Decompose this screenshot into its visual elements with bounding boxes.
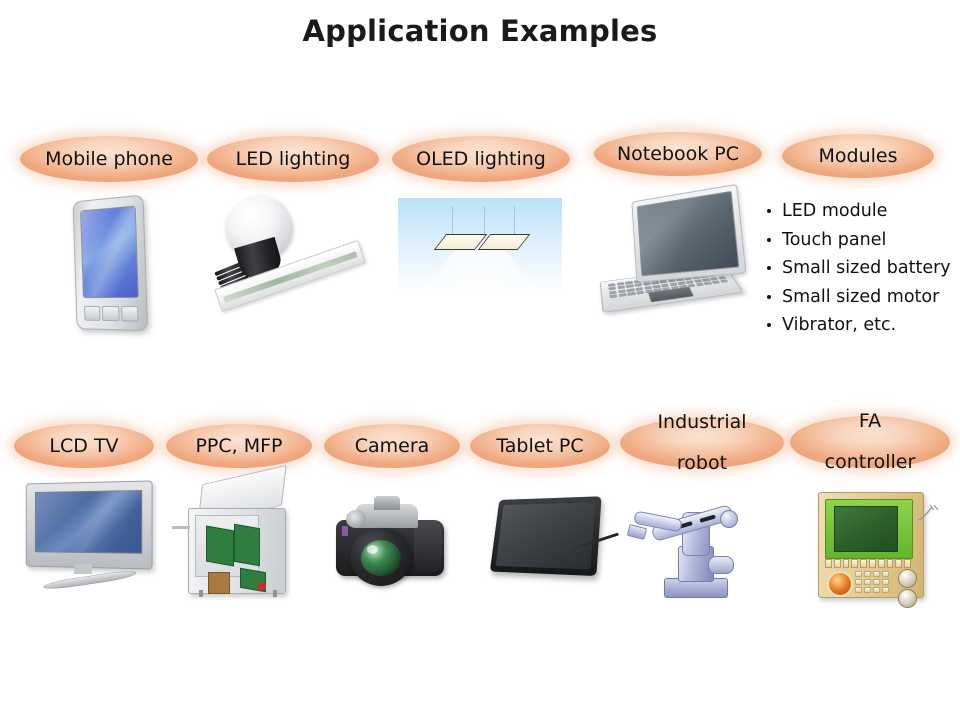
camera-badge bbox=[342, 526, 348, 536]
label-text: FA controller bbox=[825, 411, 916, 473]
illustration-fa-controller bbox=[810, 490, 938, 602]
bullet-item: LED module bbox=[764, 202, 954, 222]
label-text: Mobile phone bbox=[45, 149, 173, 170]
page-title: Application Examples bbox=[0, 14, 960, 48]
tablet-screen bbox=[496, 502, 595, 569]
label-led-lighting[interactable]: LED lighting bbox=[207, 136, 379, 182]
controller-rotary-knob[interactable] bbox=[898, 569, 917, 588]
label-text: Notebook PC bbox=[617, 144, 739, 165]
circuit-board bbox=[234, 524, 260, 567]
red-component bbox=[257, 583, 266, 590]
laptop-screen bbox=[637, 191, 740, 276]
illustration-led-lighting bbox=[196, 190, 376, 345]
label-text: OLED lighting bbox=[416, 149, 546, 170]
label-mobile-phone[interactable]: Mobile phone bbox=[20, 136, 198, 182]
label-fa-controller[interactable]: FA controller bbox=[790, 416, 950, 468]
tablet-body bbox=[490, 496, 602, 576]
camera-mode-dial bbox=[346, 510, 366, 528]
illustration-notebook-pc bbox=[598, 190, 754, 340]
label-modules[interactable]: Modules bbox=[782, 134, 934, 178]
controller-cable-icon bbox=[916, 504, 942, 522]
label-line-1: Industrial bbox=[657, 412, 746, 433]
label-oled-lighting[interactable]: OLED lighting bbox=[392, 136, 570, 182]
bullet-item: Small sized motor bbox=[764, 288, 954, 308]
controller-keypad[interactable] bbox=[855, 571, 889, 593]
oled-suspension-wire bbox=[484, 206, 485, 234]
robot-motor bbox=[708, 556, 734, 574]
label-line-1: FA bbox=[825, 411, 916, 432]
label-notebook-pc[interactable]: Notebook PC bbox=[594, 132, 762, 176]
copper-coil-part bbox=[208, 572, 230, 594]
robot-elbow-joint bbox=[720, 510, 738, 528]
emergency-stop-button[interactable] bbox=[827, 571, 853, 597]
bullet-item: Touch panel bbox=[764, 231, 954, 251]
camera-grip bbox=[414, 520, 442, 572]
label-ppc-mfp[interactable]: PPC, MFP bbox=[166, 424, 312, 468]
illustration-oled-lighting bbox=[398, 198, 562, 296]
tv-bezel bbox=[26, 480, 153, 569]
label-tablet-pc[interactable]: Tablet PC bbox=[470, 424, 610, 468]
laptop-lid bbox=[631, 184, 746, 283]
circuit-board bbox=[206, 526, 234, 567]
copier-side-rod bbox=[172, 526, 190, 529]
illustration-tablet-pc bbox=[484, 490, 620, 596]
robot-gripper bbox=[627, 524, 647, 540]
illustration-ppc-mfp bbox=[180, 472, 302, 604]
illustration-industrial-robot bbox=[626, 470, 758, 600]
controller-screen bbox=[834, 506, 898, 552]
illustration-mobile-phone bbox=[48, 192, 168, 342]
label-line-2: controller bbox=[825, 452, 916, 473]
camera-lens-glass bbox=[361, 540, 401, 576]
copier-cutaway-opening bbox=[195, 515, 259, 577]
controller-rotary-knob[interactable] bbox=[898, 589, 917, 608]
phone-screen bbox=[80, 206, 139, 299]
controller-panel bbox=[818, 492, 924, 598]
phone-keypad bbox=[84, 306, 139, 322]
illustration-camera bbox=[330, 490, 454, 594]
label-text: LED lighting bbox=[236, 149, 351, 170]
controller-display-frame bbox=[825, 499, 913, 559]
illustration-lcd-tv bbox=[18, 480, 156, 600]
bullet-item: Vibrator, etc. bbox=[764, 316, 954, 336]
camera-lens bbox=[350, 528, 412, 586]
oled-suspension-wire bbox=[452, 206, 453, 234]
label-text: Camera bbox=[355, 436, 430, 457]
bullet-item: Small sized battery bbox=[764, 259, 954, 279]
modules-bullet-list: LED module Touch panel Small sized batte… bbox=[764, 202, 954, 345]
tv-stand-neck bbox=[74, 564, 92, 574]
slide-canvas: Application Examples Mobile phone LED li… bbox=[0, 0, 960, 720]
camera-pentaprism bbox=[374, 496, 400, 510]
oled-suspension-wire bbox=[514, 206, 515, 234]
controller-function-keys bbox=[825, 559, 911, 568]
label-text: Tablet PC bbox=[496, 436, 583, 457]
label-industrial-robot[interactable]: Industrial robot bbox=[620, 418, 784, 468]
label-text: Industrial robot bbox=[657, 412, 746, 474]
phone-body bbox=[73, 195, 149, 332]
oled-panel-array bbox=[434, 234, 531, 250]
copier-body bbox=[188, 508, 286, 594]
label-text: PPC, MFP bbox=[195, 436, 282, 457]
label-lcd-tv[interactable]: LCD TV bbox=[14, 424, 154, 468]
label-text: Modules bbox=[819, 146, 898, 167]
label-text: LCD TV bbox=[49, 436, 118, 457]
tv-screen bbox=[35, 490, 142, 554]
label-camera[interactable]: Camera bbox=[324, 424, 460, 468]
